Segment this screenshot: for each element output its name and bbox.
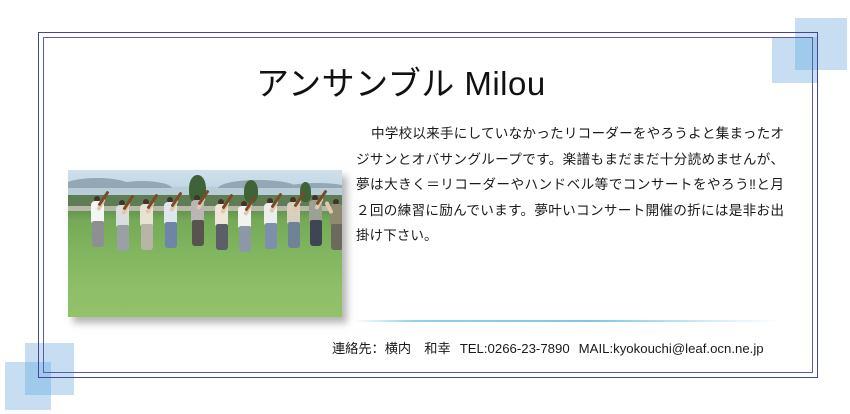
flyer-page: アンサンブル Milou [0,0,850,414]
photo-path [68,206,342,211]
contact-tel: TEL:0266-23-7890 [460,341,570,356]
body-paragraph: 中学校以来手にしていなかったリコーダーをやろうよと集まったオジサンとオバサングル… [356,121,784,249]
contact-mail: MAIL:kyokouchi@leaf.ocn.ne.jp [579,341,764,356]
group-photo-image [68,170,342,317]
contact-label: 連絡先： [332,341,385,356]
contact-line: 連絡先：横内 和幸TEL:0266-23-7890MAIL:kyokouchi@… [332,338,764,357]
page-title: アンサンブル Milou [256,57,546,105]
body-text: 中学校以来手にしていなかったリコーダーをやろうよと集まったオジサンとオバサングル… [356,121,784,249]
group-photo [68,170,342,317]
divider-rule [356,320,782,322]
contact-name: 横内 和幸 [385,341,451,356]
